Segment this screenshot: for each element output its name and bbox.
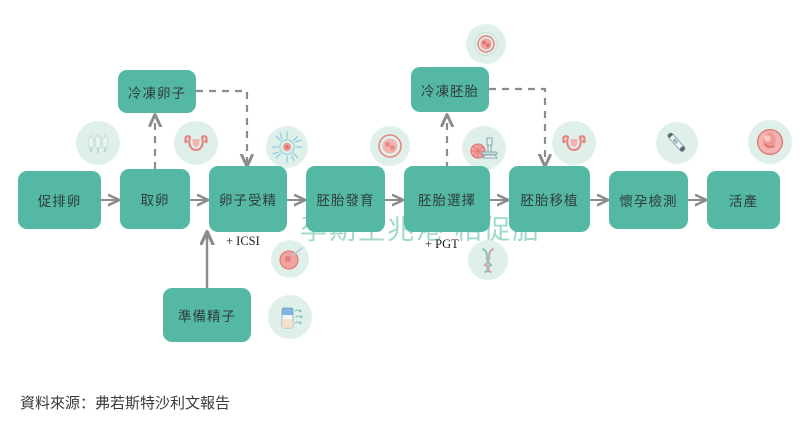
pregnancy-test-label: 懷孕檢測 bbox=[620, 190, 678, 210]
source-note: 資料來源：弗若斯特沙利文報告 bbox=[20, 392, 230, 413]
embryo-selection-box[interactable]: 胚胎選擇 bbox=[404, 166, 490, 232]
uterus-icon bbox=[174, 121, 218, 165]
embryo-cell-icon bbox=[370, 126, 410, 166]
pregnancy-test-box[interactable]: 懷孕檢測 bbox=[609, 171, 688, 229]
egg-retrieval-box[interactable]: 取卵 bbox=[120, 169, 190, 229]
frozen-embryo-box[interactable]: 冷凍胚胎 bbox=[411, 67, 489, 112]
egg-fertilization-label: 卵子受精 bbox=[219, 189, 277, 209]
frozen-eggs-label: 冷凍卵子 bbox=[128, 82, 186, 102]
egg-fertilization-box[interactable]: 卵子受精 bbox=[209, 166, 287, 232]
embryo-development-box[interactable]: 胚胎發育 bbox=[306, 166, 385, 232]
ovarian-stimulation-label: 促排卵 bbox=[38, 190, 82, 210]
blastocyst-icon bbox=[466, 24, 506, 64]
ovarian-stimulation-box[interactable]: 促排卵 bbox=[18, 171, 101, 229]
embryo-transfer-label: 胚胎移植 bbox=[521, 189, 579, 209]
frozen-eggs-box[interactable]: 冷凍卵子 bbox=[118, 70, 196, 113]
sperm-preparation-box[interactable]: 準備精子 bbox=[163, 288, 251, 342]
egg-retrieval-label: 取卵 bbox=[141, 189, 170, 209]
embryo-development-label: 胚胎發育 bbox=[317, 189, 375, 209]
pgt-annotation: + PGT bbox=[425, 237, 459, 252]
live-birth-label: 活產 bbox=[729, 190, 758, 210]
uterus-icon bbox=[552, 121, 596, 165]
embryo-selection-label: 胚胎選擇 bbox=[418, 189, 476, 209]
fetus-icon bbox=[748, 120, 792, 164]
icsi-annotation: + ICSI bbox=[226, 234, 260, 249]
dna-helix-icon bbox=[468, 240, 508, 280]
sperm-preparation-label: 準備精子 bbox=[178, 305, 236, 325]
pregnancy-test-stick-icon bbox=[656, 122, 698, 164]
fertilization-icon bbox=[266, 126, 308, 168]
embryo-transfer-box[interactable]: 胚胎移植 bbox=[509, 166, 590, 232]
frozen-embryo-label: 冷凍胚胎 bbox=[421, 80, 479, 100]
microscope-icon bbox=[462, 126, 506, 170]
sperm-sample-icon bbox=[268, 295, 312, 339]
ivf-process-diagram: 孕期生兆港 相促胎 bbox=[0, 0, 807, 426]
icsi-injection-icon bbox=[271, 240, 309, 278]
live-birth-box[interactable]: 活產 bbox=[707, 171, 780, 229]
syringes-icon bbox=[76, 121, 120, 165]
